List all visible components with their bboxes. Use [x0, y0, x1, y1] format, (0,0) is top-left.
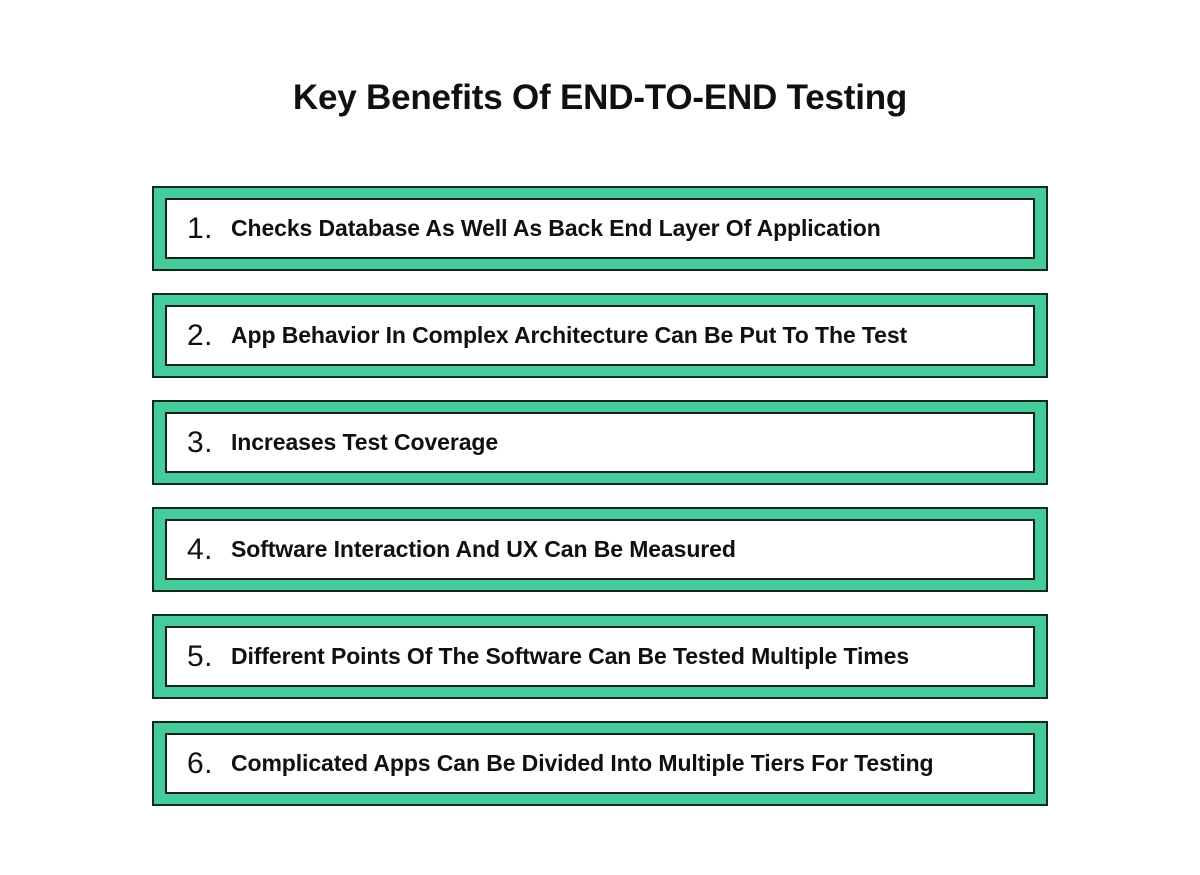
list-item-number: 4. [187, 535, 231, 565]
infographic-page: Key Benefits Of END-TO-END Testing 1. Ch… [0, 0, 1200, 875]
list-item-panel: 2. App Behavior In Complex Architecture … [165, 305, 1035, 366]
list-item: 2. App Behavior In Complex Architecture … [152, 293, 1048, 378]
list-item-panel: 3. Increases Test Coverage [165, 412, 1035, 473]
list-item-label: Complicated Apps Can Be Divided Into Mul… [231, 750, 934, 776]
list-item: 1. Checks Database As Well As Back End L… [152, 186, 1048, 271]
benefits-list: 1. Checks Database As Well As Back End L… [152, 186, 1048, 806]
list-item-number: 5. [187, 642, 231, 672]
list-item-label: Checks Database As Well As Back End Laye… [231, 215, 881, 241]
list-item: 6. Complicated Apps Can Be Divided Into … [152, 721, 1048, 806]
list-item-panel: 1. Checks Database As Well As Back End L… [165, 198, 1035, 259]
list-item-panel: 5. Different Points Of The Software Can … [165, 626, 1035, 687]
list-item-number: 6. [187, 749, 231, 779]
list-item: 4. Software Interaction And UX Can Be Me… [152, 507, 1048, 592]
list-item-panel: 4. Software Interaction And UX Can Be Me… [165, 519, 1035, 580]
list-item-label: App Behavior In Complex Architecture Can… [231, 322, 907, 348]
list-item: 3. Increases Test Coverage [152, 400, 1048, 485]
list-item-label: Increases Test Coverage [231, 429, 498, 455]
list-item-number: 1. [187, 214, 231, 244]
list-item-label: Different Points Of The Software Can Be … [231, 643, 909, 669]
list-item: 5. Different Points Of The Software Can … [152, 614, 1048, 699]
list-item-number: 3. [187, 428, 231, 458]
list-item-panel: 6. Complicated Apps Can Be Divided Into … [165, 733, 1035, 794]
list-item-number: 2. [187, 321, 231, 351]
list-item-label: Software Interaction And UX Can Be Measu… [231, 536, 736, 562]
page-title: Key Benefits Of END-TO-END Testing [0, 78, 1200, 118]
